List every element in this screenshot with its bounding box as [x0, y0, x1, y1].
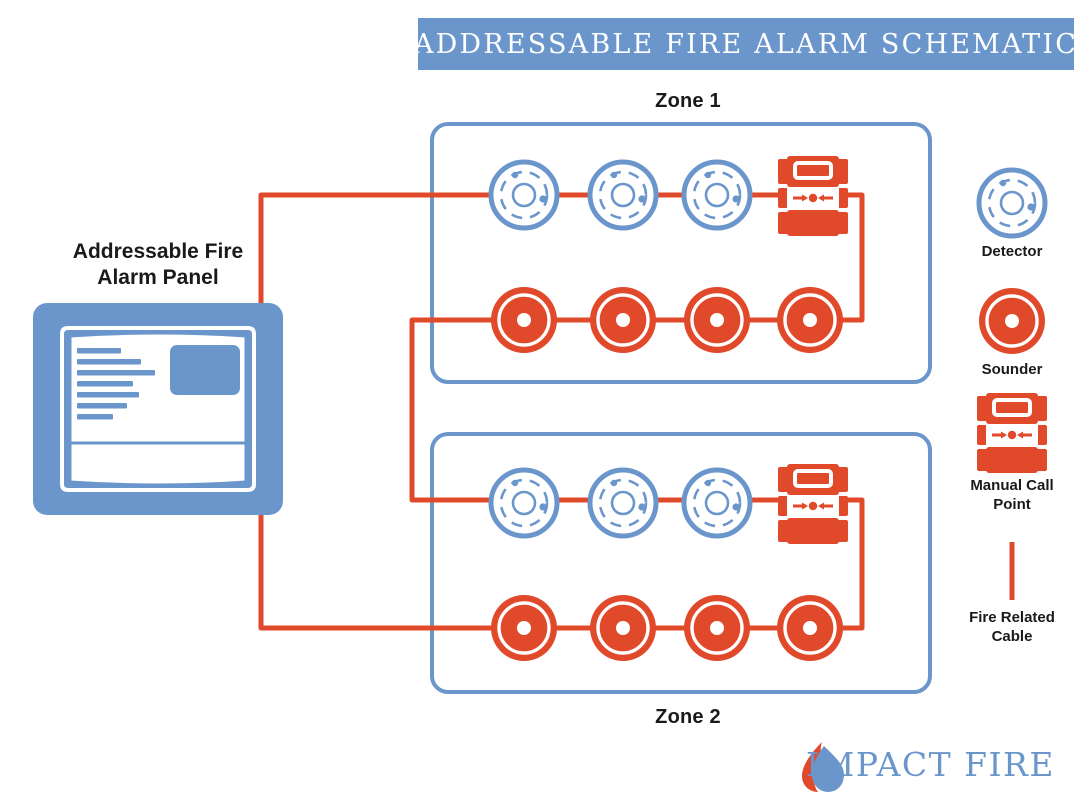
panel-screen[interactable]	[170, 345, 240, 395]
zone1-sounder-2[interactable]	[590, 287, 656, 353]
fire-alarm-panel[interactable]	[33, 303, 283, 515]
zone2-sounder-1[interactable]	[491, 595, 557, 661]
brand-logo-text: IMPACT FIRE	[806, 745, 1055, 784]
zone2-detector-2[interactable]	[590, 470, 656, 536]
cable-zone2-return	[838, 500, 862, 628]
cable-panel-to-zone1-detectors	[261, 195, 500, 318]
legend-cable-line-2: Cable	[942, 627, 1082, 646]
legend-cable-label: Fire Related Cable	[942, 608, 1082, 646]
legend-detector-icon	[979, 170, 1045, 236]
zone2-sounder-3[interactable]	[684, 595, 750, 661]
cable-zone2-to-panel	[261, 512, 520, 628]
cable-zone1-sounder-to-trunk	[412, 320, 520, 500]
legend-callpoint-line-2: Point	[942, 495, 1082, 514]
legend-cable-line-1: Fire Related	[942, 608, 1082, 627]
panel-label-line-1: Addressable Fire	[28, 239, 288, 265]
legend-callpoint-line-1: Manual Call	[942, 476, 1082, 495]
zone1-sounder-3[interactable]	[684, 287, 750, 353]
zone1-detector-3[interactable]	[684, 162, 750, 228]
zone-2-devices	[491, 464, 848, 661]
panel-label: Addressable Fire Alarm Panel	[28, 239, 288, 291]
zone1-detector-1[interactable]	[491, 162, 557, 228]
zone2-detector-3[interactable]	[684, 470, 750, 536]
zone1-manual-call-point[interactable]	[778, 156, 848, 236]
legend	[977, 170, 1047, 600]
zone2-sounder-2[interactable]	[590, 595, 656, 661]
legend-sounder-icon	[979, 288, 1045, 354]
panel-label-line-2: Alarm Panel	[28, 265, 288, 291]
zone-2-label: Zone 2	[608, 706, 768, 729]
schematic-canvas: ADDRESSABLE FIRE ALARM SCHEMATIC	[0, 0, 1090, 800]
brand-logo[interactable]: IMPACT FIRE	[798, 738, 1088, 790]
zone1-sounder-1[interactable]	[491, 287, 557, 353]
zone2-manual-call-point[interactable]	[778, 464, 848, 544]
legend-detector-label: Detector	[942, 242, 1082, 261]
zone2-detector-1[interactable]	[491, 470, 557, 536]
legend-sounder-label: Sounder	[942, 360, 1082, 379]
legend-manual-call-point-label: Manual Call Point	[942, 476, 1082, 514]
zone1-sounder-4[interactable]	[777, 287, 843, 353]
zone2-sounder-4[interactable]	[777, 595, 843, 661]
legend-manual-call-point-icon	[977, 393, 1047, 473]
zone1-detector-2[interactable]	[590, 162, 656, 228]
schematic-drawing	[0, 0, 1090, 800]
zone-1-devices	[491, 156, 848, 353]
fire-cable-network	[261, 195, 862, 628]
zone-1-label: Zone 1	[608, 90, 768, 113]
